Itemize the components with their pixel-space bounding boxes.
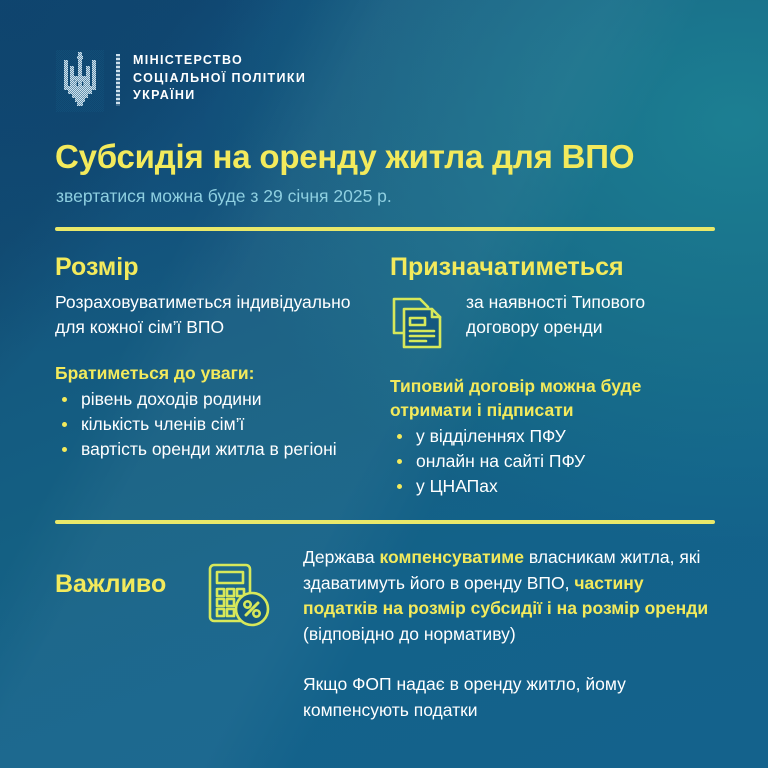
divider-top xyxy=(55,227,715,231)
section-amount-list-heading: Братиметься до уваги: xyxy=(55,361,355,385)
imp-p1-part3: (відповідно до нормативу) xyxy=(303,624,516,644)
section-eligibility: Призначатиметься за наявності Типового д… xyxy=(390,252,720,499)
spacer xyxy=(55,339,355,361)
infographic-page: МІНІСТЕРСТВО СОЦІАЛЬНОЇ ПОЛІТИКИ УКРАЇНИ… xyxy=(0,0,768,768)
section-eligibility-list-heading: Типовий договір можна буде отримати і пі… xyxy=(390,374,720,422)
section-important-label: Важливо xyxy=(55,570,205,599)
imp-p1-part1: Держава xyxy=(303,547,379,567)
ministry-line-2: СОЦІАЛЬНОЇ ПОЛІТИКИ xyxy=(133,70,306,88)
list-item: онлайн на сайті ПФУ xyxy=(390,449,720,474)
section-eligibility-heading: Призначатиметься xyxy=(390,252,720,282)
important-paragraph-2: Якщо ФОП надає в оренду житло, йому комп… xyxy=(303,672,715,723)
section-amount-bullet-list: рівень доходів родини кількість членів с… xyxy=(55,387,355,462)
ministry-logo: МІНІСТЕРСТВО СОЦІАЛЬНОЇ ПОЛІТИКИ УКРАЇНИ xyxy=(56,50,306,112)
imp-p1-highlight1: компенсуватиме xyxy=(379,547,524,567)
section-important-text: Держава компенсуватиме власникам житла, … xyxy=(303,545,715,723)
section-amount: Розмір Розраховуватиметься індивідуально… xyxy=(55,252,355,462)
list-item: вартість оренди житла в регіоні xyxy=(55,437,355,462)
logo-divider-bar xyxy=(116,54,120,106)
ministry-line-3: УКРАЇНИ xyxy=(133,87,306,105)
list-item: у відділеннях ПФУ xyxy=(390,424,720,449)
section-important: Важливо Держава компенсуватиме власникам… xyxy=(55,545,715,723)
ukraine-trident-emblem xyxy=(56,50,104,112)
divider-bottom xyxy=(55,520,715,524)
section-eligibility-bullet-list: у відділеннях ПФУ онлайн на сайті ПФУ у … xyxy=(390,424,720,499)
important-paragraph-1: Держава компенсуватиме власникам житла, … xyxy=(303,545,715,647)
calculator-percent-icon xyxy=(205,561,271,631)
ministry-name: МІНІСТЕРСТВО СОЦІАЛЬНОЇ ПОЛІТИКИ УКРАЇНИ xyxy=(133,52,306,105)
list-item: кількість членів сім’ї xyxy=(55,412,355,437)
page-subtitle: звертатися можна буде з 29 січня 2025 р. xyxy=(56,186,392,207)
documents-icon xyxy=(390,294,446,352)
spacer xyxy=(390,352,720,374)
section-eligibility-icon-text: за наявності Типового договору оренди xyxy=(466,290,720,339)
section-amount-heading: Розмір xyxy=(55,252,355,282)
ministry-line-1: МІНІСТЕРСТВО xyxy=(133,52,306,70)
section-eligibility-icon-row: за наявності Типового договору оренди xyxy=(390,290,720,352)
list-item: у ЦНАПах xyxy=(390,474,720,499)
list-item: рівень доходів родини xyxy=(55,387,355,412)
page-title: Субсидія на оренду житла для ВПО xyxy=(55,138,634,176)
section-amount-paragraph: Розраховуватиметься індивідуально для ко… xyxy=(55,290,355,339)
